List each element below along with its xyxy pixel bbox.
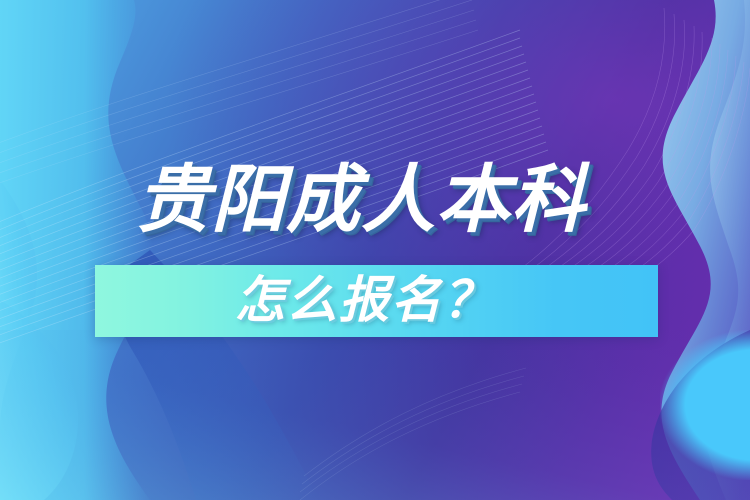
cyan-accent-glow	[660, 330, 750, 480]
subtitle-text: 怎么报名？	[235, 265, 495, 337]
promo-banner: 贵阳成人本科 怎么报名？	[0, 0, 750, 500]
background-waves	[0, 0, 750, 500]
subtitle-band: 怎么报名？	[95, 265, 658, 337]
page-title: 贵阳成人本科	[136, 152, 656, 248]
title-block: 贵阳成人本科	[136, 152, 656, 248]
line-strand-pattern	[0, 0, 750, 500]
